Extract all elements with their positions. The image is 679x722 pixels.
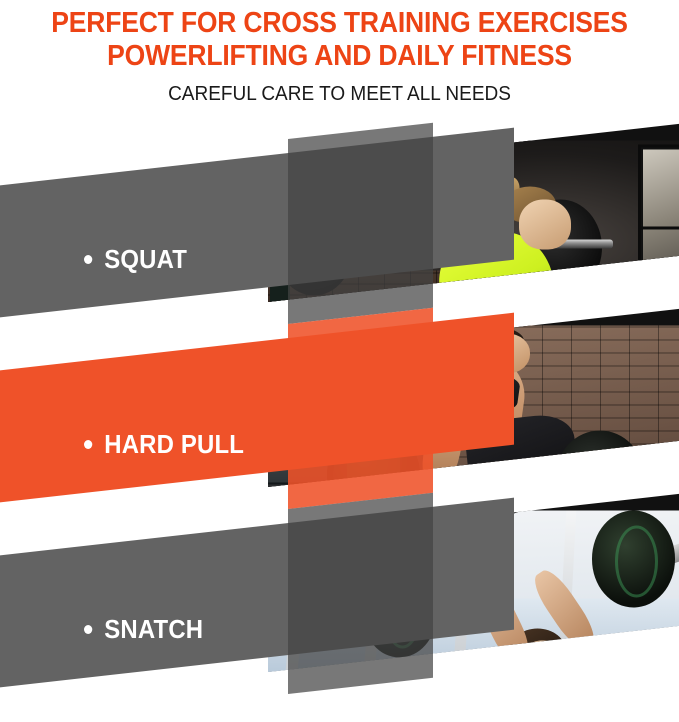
subheadline: CAREFUL CARE TO MEET ALL NEEDS (17, 81, 662, 107)
hard-pull-label: HARD PULL (84, 429, 244, 460)
hard-pull-label-text: HARD PULL (104, 429, 244, 460)
bullet-icon (84, 255, 92, 264)
exercise-band-snatch: SNATCH (0, 492, 679, 692)
snatch-label-panel (0, 498, 514, 688)
headline-line-1: PERFECT FOR CROSS TRAINING EXERCISES (24, 6, 655, 40)
snatch-label-text: SNATCH (104, 614, 203, 645)
exercise-band-squat: SQUAT (0, 122, 679, 322)
snatch-label: SNATCH (84, 614, 203, 645)
exercise-band-list: SQUAT HARD PULL (0, 122, 679, 722)
squat-label: SQUAT (84, 244, 187, 275)
bullet-icon (84, 625, 92, 634)
headline-line-2: POWERLIFTING AND DAILY FITNESS (24, 39, 655, 73)
squat-label-panel (0, 128, 514, 318)
header: PERFECT FOR CROSS TRAINING EXERCISES POW… (0, 0, 679, 122)
exercise-band-hard-pull: HARD PULL (0, 307, 679, 507)
hard-pull-label-panel (0, 313, 514, 503)
bullet-icon (84, 440, 92, 449)
squat-label-text: SQUAT (104, 244, 187, 275)
